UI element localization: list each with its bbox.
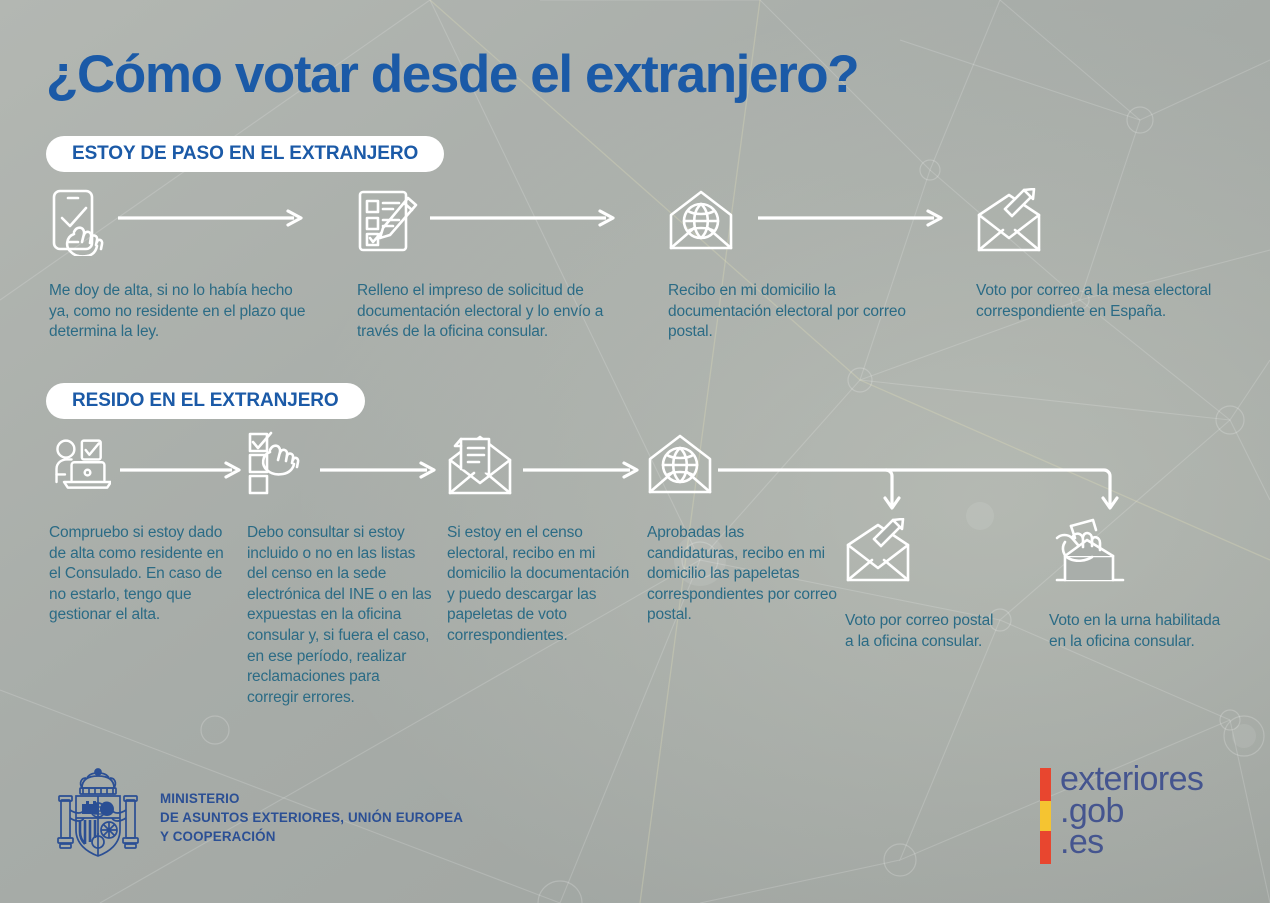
step-caption: Debo consultar si estoy incluido o no en… [247,523,432,708]
step-caption: Recibo en mi domicilio la documentación … [668,281,938,343]
step-caption: Me doy de alta, si no lo había hecho ya,… [49,281,309,343]
step-caption: Relleno el impreso de solicitud de docum… [357,281,647,343]
step-s1-4: Voto por correo a la mesa electoral corr… [976,188,1226,322]
ministry-line-1: MINISTERIO [160,789,463,808]
step-s2-1: Compruebo si estoy dado de alta como res… [49,432,234,626]
page-title: ¿Cómo votar desde el extranjero? [46,44,858,105]
ministry-line-3: Y COOPERACIÓN [160,827,463,846]
spain-coat-of-arms-icon [52,766,144,866]
phone-check-tap-icon [49,188,111,256]
section-badge-estoy-de-paso: ESTOY DE PASO EN EL EXTRANJERO [46,136,444,172]
section-badge-resido-en-el-extranjero: RESIDO EN EL EXTRANJERO [46,383,365,419]
step-caption: Voto por correo a la mesa electoral corr… [976,281,1226,322]
step-caption: Compruebo si estoy dado de alta como res… [49,523,234,626]
branch-s2-2: Voto en la urna habilitada en la oficina… [1049,518,1239,652]
envelope-ballot-icon [845,518,915,586]
branch-caption: Voto en la urna habilitada en la oficina… [1049,611,1239,652]
section-badge-label: RESIDO EN EL EXTRANJERO [72,390,339,412]
exteriores-brand-logo[interactable]: exteriores .gob .es [1040,764,1203,864]
step-caption: Aprobadas las candidaturas, recibo en mi… [647,523,837,626]
step-s1-3: Recibo en mi domicilio la documentación … [668,188,938,343]
step-s2-2: Debo consultar si estoy incluido o no en… [247,428,432,708]
envelope-globe-icon [668,188,734,256]
branch-caption: Voto por correo postal a la oficina cons… [845,611,1005,652]
checklist-tap-icon [247,428,309,496]
step-s1-2: Relleno el impreso de solicitud de docum… [357,188,647,343]
envelope-document-icon [447,432,513,500]
form-pencil-icon [357,188,419,256]
ministry-name: MINISTERIO DE ASUNTOS EXTERIORES, UNIÓN … [160,789,463,846]
step-s1-1: Me doy de alta, si no lo había hecho ya,… [49,188,309,343]
ministry-line-2: DE ASUNTOS EXTERIORES, UNIÓN EUROPEA [160,808,463,827]
envelope-ballot-icon [976,188,1046,256]
spain-flag-bar-icon [1040,768,1051,864]
step-caption: Si estoy en el censo electoral, recibo e… [447,523,637,647]
brand-line-1: exteriores [1060,764,1203,796]
section-badge-label: ESTOY DE PASO EN EL EXTRANJERO [72,143,418,165]
branch-s2-1: Voto por correo postal a la oficina cons… [845,518,1005,652]
person-laptop-check-icon [49,432,111,500]
ballot-box-hand-icon [1049,518,1129,586]
step-s2-4: Aprobadas las candidaturas, recibo en mi… [647,432,837,626]
envelope-globe-icon [647,432,713,500]
infographic-root: ¿Cómo votar desde el extranjero? ESTOY D… [0,0,1270,903]
step-s2-3: Si estoy en el censo electoral, recibo e… [447,432,637,647]
brand-wordmark: exteriores .gob .es [1060,764,1203,859]
brand-line-3: .es [1060,827,1203,859]
